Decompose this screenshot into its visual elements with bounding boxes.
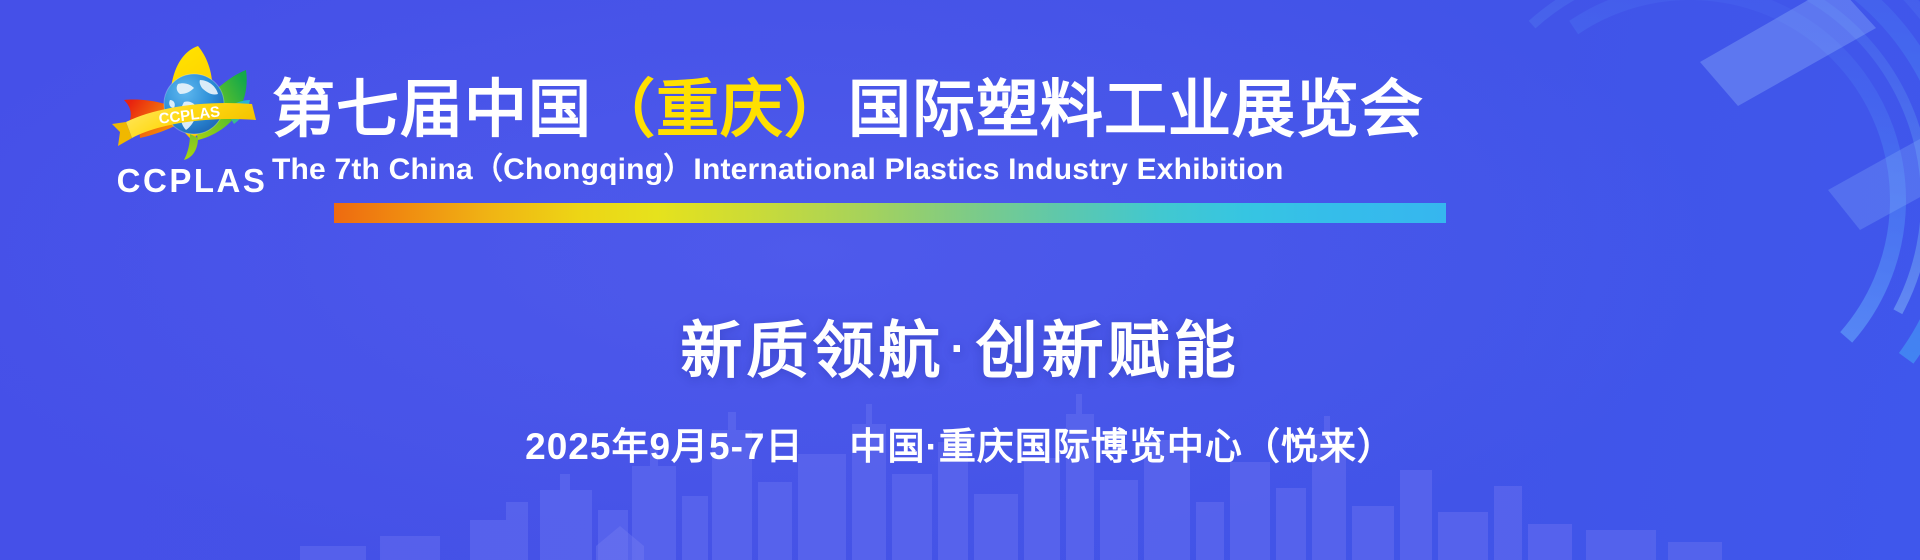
event-info: 2025年9月5-7日中国·重庆国际博览中心（悦来） xyxy=(0,425,1920,469)
title-cn-part2: 国际塑料工业展览会 xyxy=(848,75,1424,145)
slogan: 新质领航·创新赋能 xyxy=(0,318,1920,386)
exhibition-banner: CCPLAS CCPLAS 第七届中国（重庆）国际塑料工业展览会 The 7th… xyxy=(0,0,1920,560)
slogan-right: 创新赋能 xyxy=(976,317,1240,386)
title-cn-part1: 第七届中国 xyxy=(272,75,592,145)
event-venue: 中国·重庆国际博览中心（悦来） xyxy=(850,426,1395,467)
ccplas-leaf-globe-logo-icon: CCPLAS xyxy=(106,42,278,162)
logo-wordmark: CCPLAS xyxy=(106,164,278,197)
headline-block: 第七届中国（重庆）国际塑料工业展览会 The 7th China（Chongqi… xyxy=(272,78,1452,223)
event-date: 2025年9月5-7日 xyxy=(525,426,803,467)
slogan-left: 新质领航 xyxy=(680,317,944,386)
page-subtitle: The 7th China（Chongqing）International Pl… xyxy=(272,153,1452,186)
title-cn-paren-open: （ xyxy=(592,75,656,145)
logo-block: CCPLAS CCPLAS xyxy=(106,42,278,202)
rainbow-gradient-rule xyxy=(334,203,1446,223)
title-cn-city: 重庆 xyxy=(656,75,784,145)
title-cn-paren-close: ） xyxy=(784,75,848,145)
page-title: 第七届中国（重庆）国际塑料工业展览会 xyxy=(272,78,1452,144)
slogan-separator: · xyxy=(944,322,975,374)
